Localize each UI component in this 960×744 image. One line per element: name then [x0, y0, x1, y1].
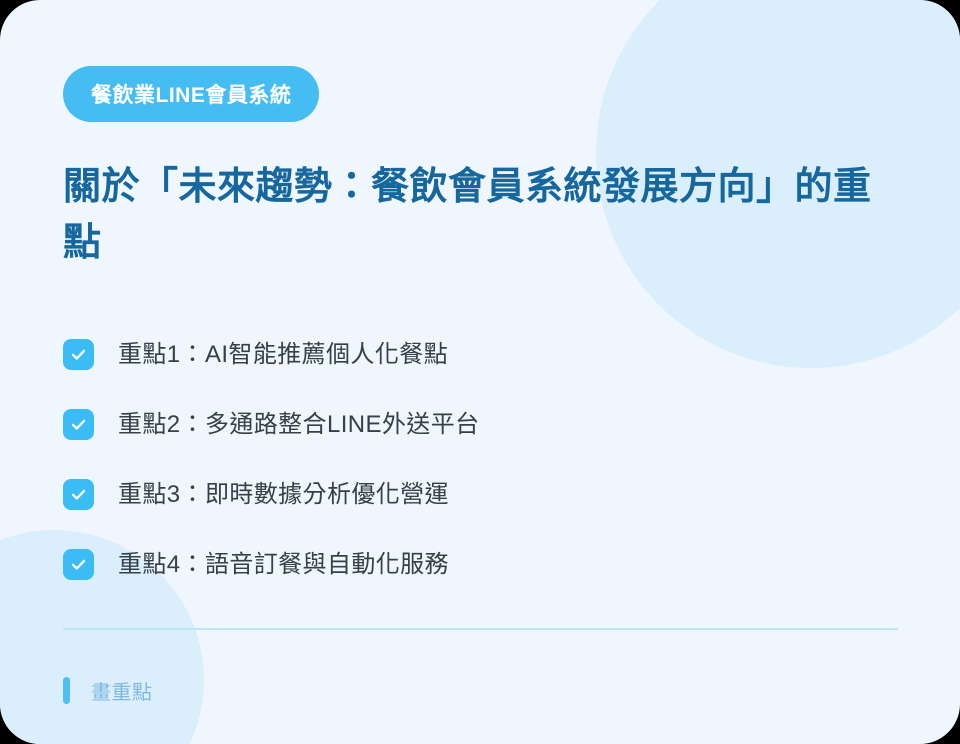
list-item-label: 重點4：語音訂餐與自動化服務	[118, 549, 449, 580]
check-icon[interactable]	[63, 339, 94, 370]
card-content: 餐飲業LINE會員系統 關於「未來趨勢：餐飲會員系統發展方向」的重點 重點1：A…	[0, 0, 960, 705]
check-icon[interactable]	[63, 479, 94, 510]
list-item-label: 重點1：AI智能推薦個人化餐點	[118, 339, 448, 370]
list-item-label: 重點3：即時數據分析優化營運	[118, 479, 449, 510]
category-badge: 餐飲業LINE會員系統	[63, 66, 319, 122]
list-item[interactable]: 重點3：即時數據分析優化營運	[63, 459, 898, 529]
section-divider	[63, 628, 898, 630]
page-title: 關於「未來趨勢：餐飲會員系統發展方向」的重點	[63, 159, 883, 271]
check-icon[interactable]	[63, 409, 94, 440]
accent-bar	[63, 677, 70, 704]
check-icon[interactable]	[63, 549, 94, 580]
list-item[interactable]: 重點2：多通路整合LINE外送平台	[63, 389, 898, 459]
list-item[interactable]: 重點1：AI智能推薦個人化餐點	[63, 319, 898, 389]
list-item[interactable]: 重點4：語音訂餐與自動化服務	[63, 529, 898, 599]
article-card: 餐飲業LINE會員系統 關於「未來趨勢：餐飲會員系統發展方向」的重點 重點1：A…	[0, 0, 960, 744]
list-item-label: 重點2：多通路整合LINE外送平台	[118, 409, 480, 440]
footer-label: 畫重點	[91, 676, 153, 705]
key-points-list: 重點1：AI智能推薦個人化餐點 重點2：多通路整合LINE外送平台 重點3：即時…	[63, 319, 898, 599]
footer-note: 畫重點	[63, 676, 898, 705]
